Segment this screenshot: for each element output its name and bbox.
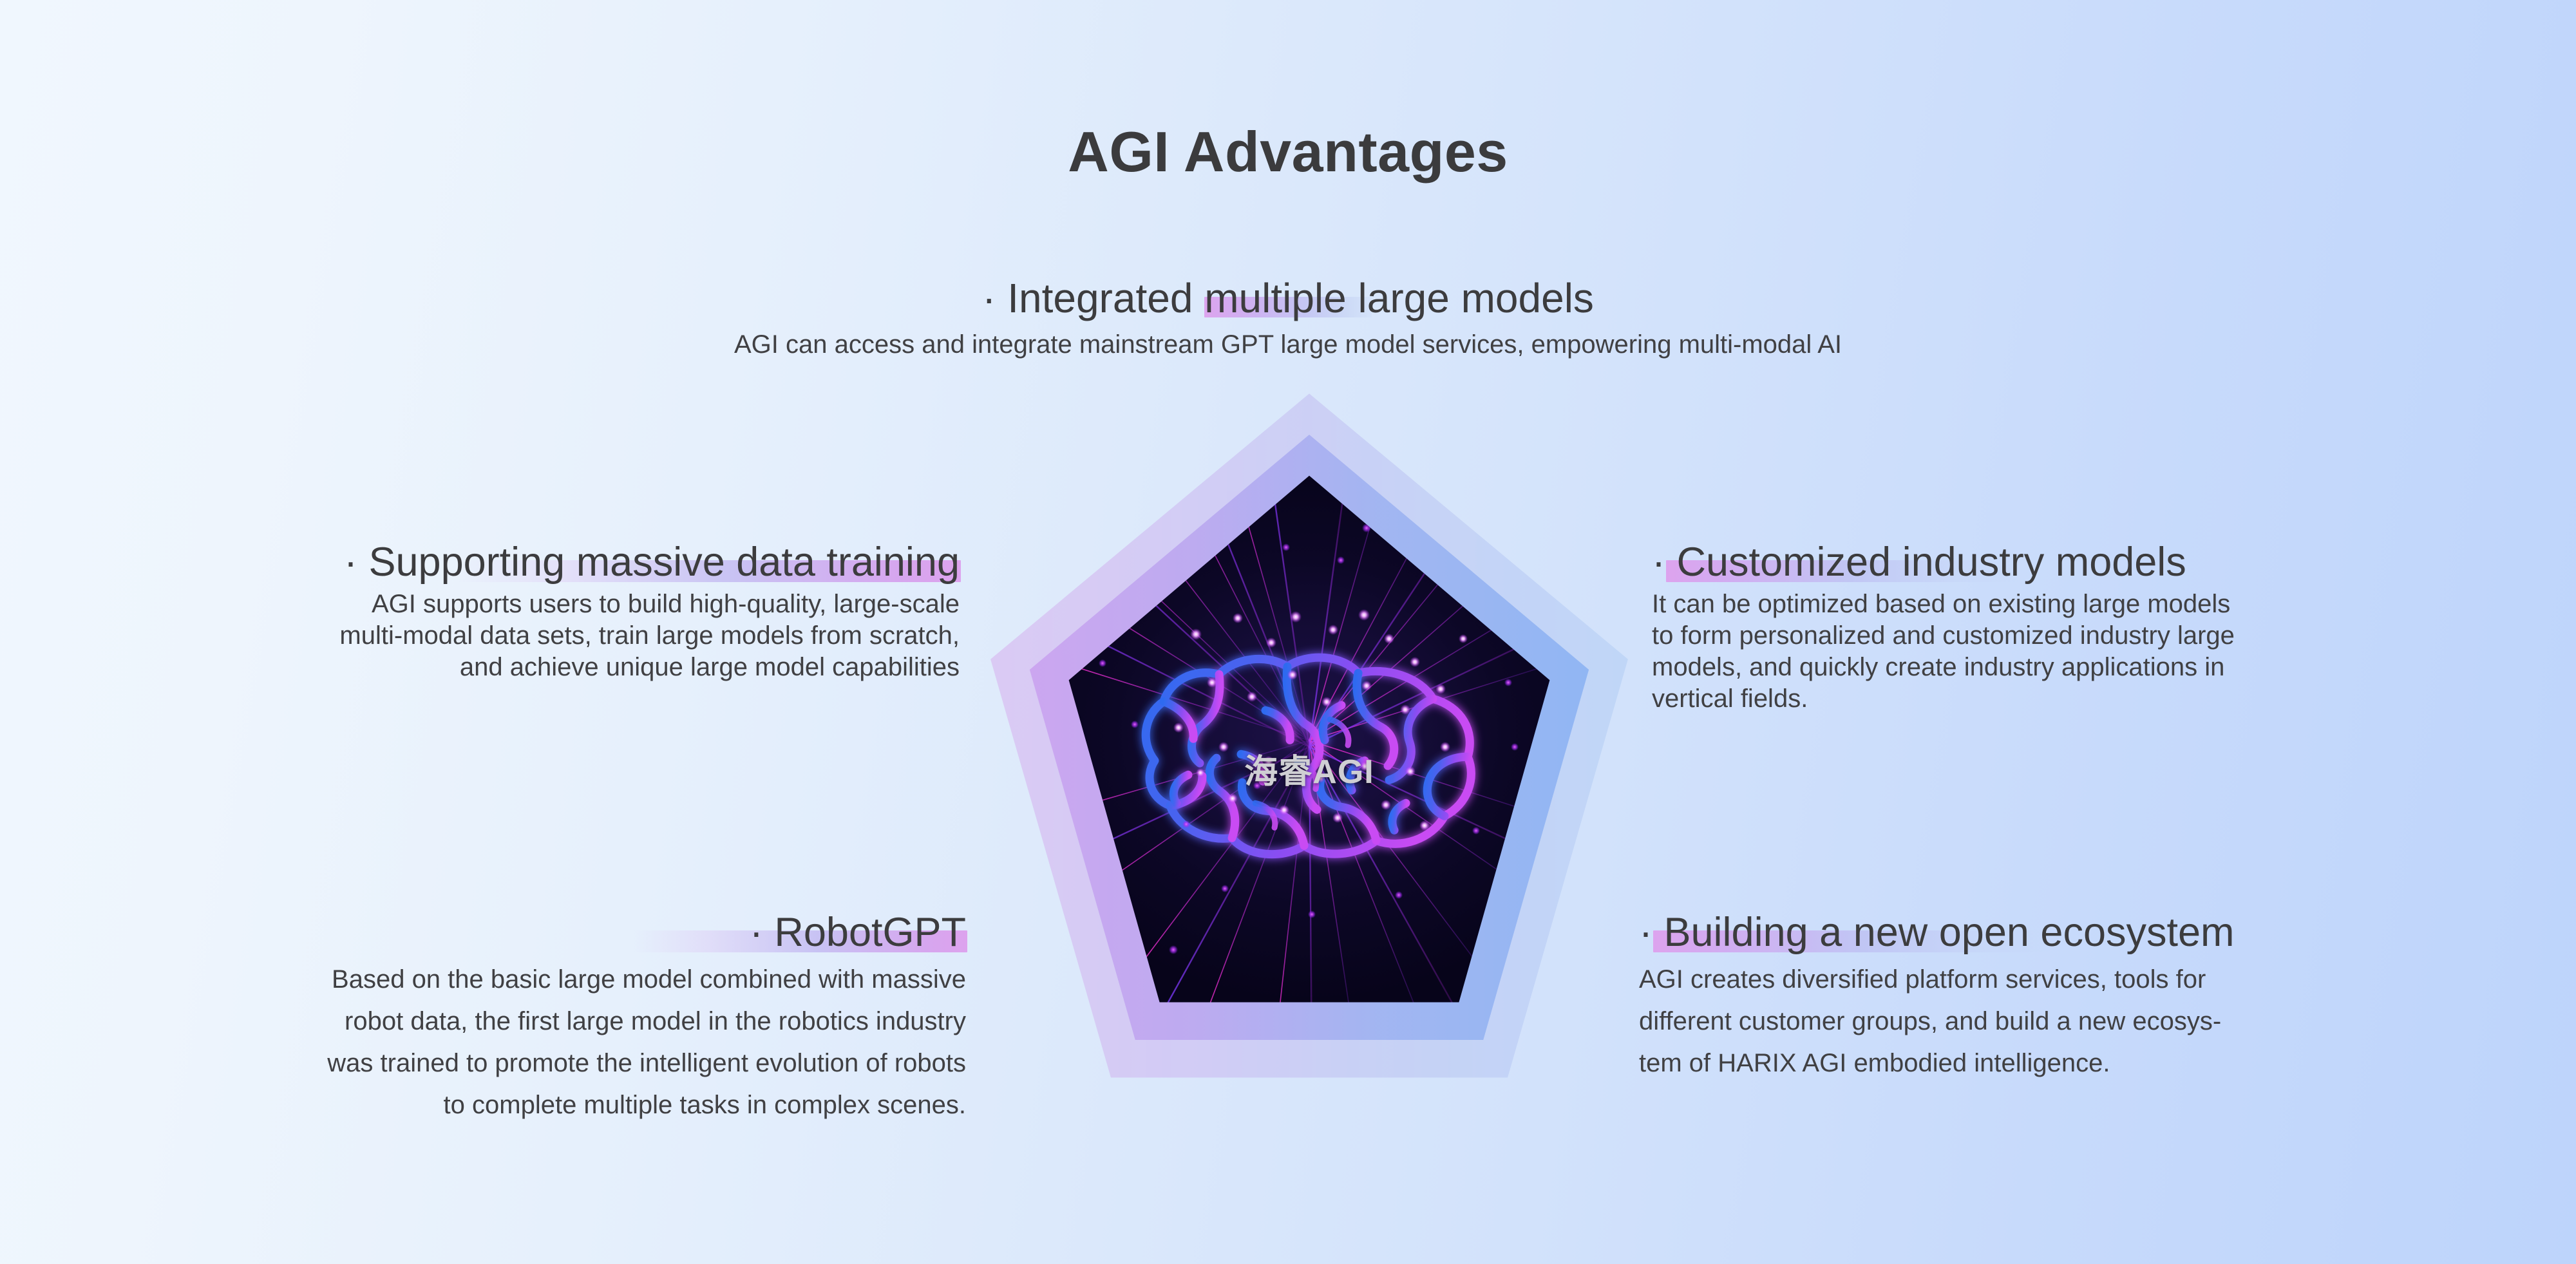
feature-heading: · Integrated multiple large models — [982, 277, 1594, 320]
feature-integrated-multiple-large-models: · Integrated multiple large models AGI c… — [0, 277, 2576, 361]
feature-body: AGI supports users to build high-quality… — [45, 589, 960, 683]
feature-body: AGI creates diversified platform service… — [1639, 959, 2541, 1084]
feature-supporting-massive-data-training: · Supporting massive data training AGI s… — [45, 541, 960, 683]
page-title: AGI Advantages — [0, 119, 2576, 185]
feature-robotgpt: · RobotGPT Based on the basic large mode… — [39, 911, 966, 1126]
feature-body: It can be optimized based on existing la… — [1652, 589, 2541, 714]
feature-heading: · Building a new open ecosystem — [1639, 911, 2235, 954]
feature-heading: · RobotGPT — [750, 911, 966, 954]
feature-heading: · Supporting massive data training — [344, 541, 960, 583]
feature-body: AGI can access and integrate mainstream … — [0, 329, 2576, 361]
center-brand-label: 海睿AGI — [1064, 744, 1555, 793]
feature-heading: · Customized industry models — [1652, 541, 2186, 583]
feature-customized-industry-models: · Customized industry models It can be o… — [1652, 541, 2541, 714]
center-pentagon-graphic: 海睿AGI — [984, 386, 1634, 1114]
feature-body: Based on the basic large model combined … — [39, 959, 966, 1126]
feature-building-a-new-open-ecosystem: · Building a new open ecosystem AGI crea… — [1639, 911, 2541, 1084]
